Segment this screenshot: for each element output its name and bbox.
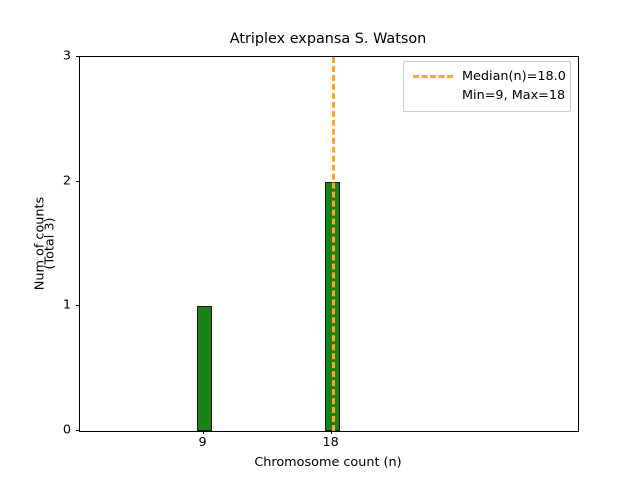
y-tick-label-3: 3 [63, 49, 71, 64]
y-tick-label-1: 1 [63, 298, 71, 313]
y-axis-label-line-2: (Total 3) [43, 144, 58, 344]
x-tick-label-18: 18 [322, 435, 338, 450]
plot-area [80, 57, 578, 431]
y-tick-label-0: 0 [63, 423, 71, 438]
page-title: Atriplex expansa S. Watson [79, 31, 577, 48]
x-axis-label: Chromosome count (n) [79, 455, 577, 470]
legend-label-minmax: Min=9, Max=18 [462, 88, 565, 103]
bar-9 [197, 306, 212, 431]
legend-entry-median: Median(n)=18.0 [412, 67, 562, 86]
dashed-line-icon [412, 67, 454, 86]
x-tick-mark-18 [331, 430, 332, 434]
y-tick-label-2: 2 [63, 173, 71, 188]
legend-label-median: Median(n)=18.0 [462, 69, 566, 84]
legend: Median(n)=18.0 Min=9, Max=18 [403, 61, 571, 112]
chart-figure: Atriplex expansa S. Watson Num of counts… [0, 0, 640, 480]
y-axis-label: Num of counts (Total 3) [0, 0, 60, 480]
x-tick-mark-9 [203, 430, 204, 434]
plot-axes [79, 56, 579, 432]
x-tick-label-9: 9 [199, 435, 207, 450]
median-line [332, 57, 335, 431]
legend-entry-minmax: Min=9, Max=18 [412, 86, 562, 105]
